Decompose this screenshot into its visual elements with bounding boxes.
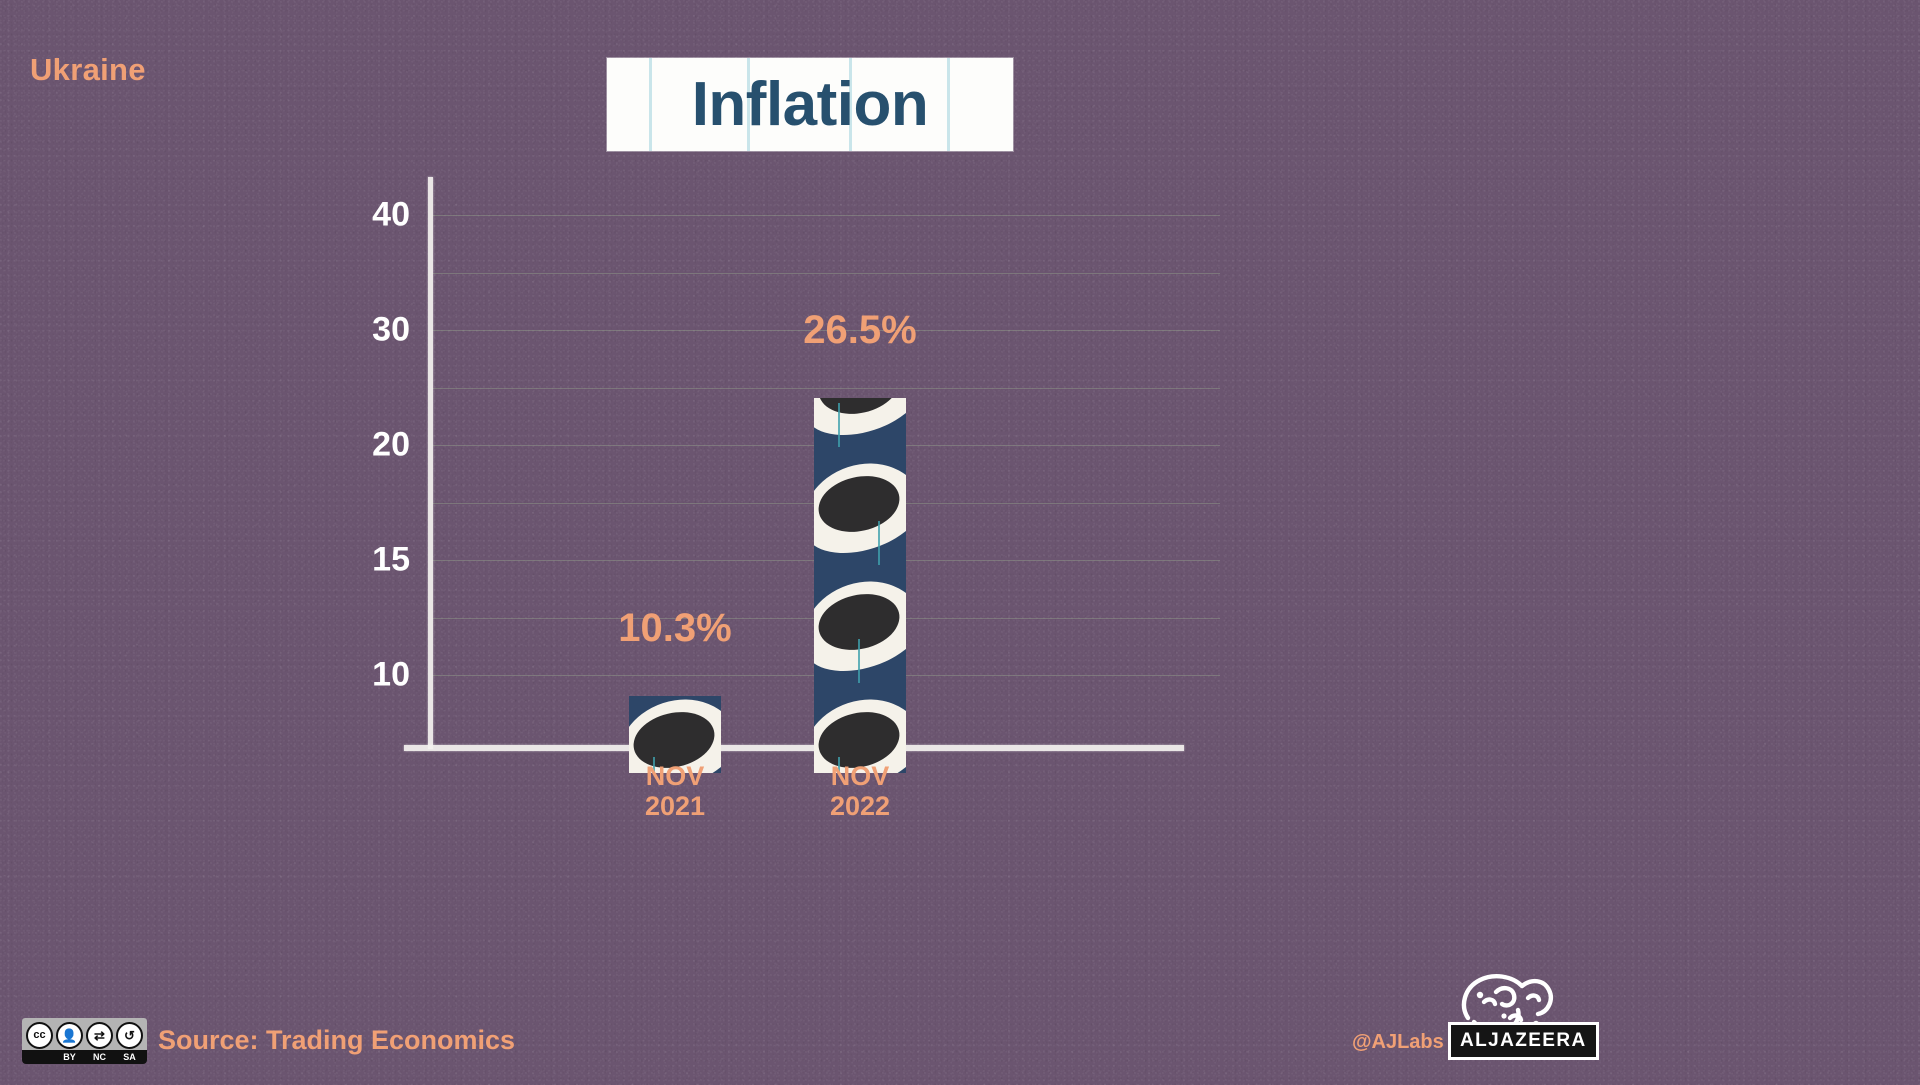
cc-mark-icon: cc: [26, 1022, 53, 1049]
aljazeera-wordmark: ALJAZEERA: [1448, 1022, 1599, 1060]
bar-value-label-2: 26.5%: [803, 308, 916, 353]
social-handle: @AJLabs: [1352, 1031, 1444, 1054]
paper-rule-line: [947, 58, 950, 151]
y-axis-tick-30: 30: [300, 311, 410, 350]
y-axis-tick-10: 10: [300, 656, 410, 695]
country-label: Ukraine: [30, 52, 146, 88]
cc-by-person-icon: 👤: [56, 1022, 83, 1049]
y-axis-tick-40: 40: [300, 196, 410, 235]
bar-2: [814, 398, 906, 773]
cc-sa-sharealike-icon: ↺: [116, 1022, 143, 1049]
x-axis-category-label-2: NOV 2022: [830, 761, 890, 821]
paper-rule-line: [649, 58, 652, 151]
gridline: [432, 215, 1220, 216]
gridline: [432, 273, 1220, 274]
cc-label-row: BY NC SA: [22, 1050, 147, 1064]
y-axis-tick-15: 15: [300, 541, 410, 580]
bar-teal-accent: [878, 521, 880, 565]
bar-teal-accent: [838, 403, 840, 447]
chart-title: Inflation: [692, 69, 929, 140]
bar-teal-accent: [858, 639, 860, 683]
cc-label-nc: NC: [86, 1052, 113, 1062]
cc-nc-nocommercial-icon: ⇄: [86, 1022, 113, 1049]
source-attribution: Source: Trading Economics: [158, 1025, 515, 1056]
x-axis-line: [404, 745, 1184, 751]
cc-label-sa: SA: [116, 1052, 143, 1062]
cc-label-by: BY: [56, 1052, 83, 1062]
cc-label-spacer: [26, 1052, 53, 1062]
gridline: [432, 388, 1220, 389]
x-axis-category-label-1: NOV 2021: [645, 761, 705, 821]
bar-value-label-1: 10.3%: [618, 606, 731, 651]
chart-plot-area: 1015203040 10.3%NOV 202126.5%NOV 2022: [300, 175, 1220, 775]
title-panel: Inflation: [607, 58, 1013, 151]
y-axis-line: [428, 177, 433, 749]
creative-commons-badge: cc 👤 ⇄ ↺ BY NC SA: [22, 1018, 147, 1064]
cc-icon-row: cc 👤 ⇄ ↺: [22, 1018, 147, 1050]
y-axis-tick-20: 20: [300, 426, 410, 465]
